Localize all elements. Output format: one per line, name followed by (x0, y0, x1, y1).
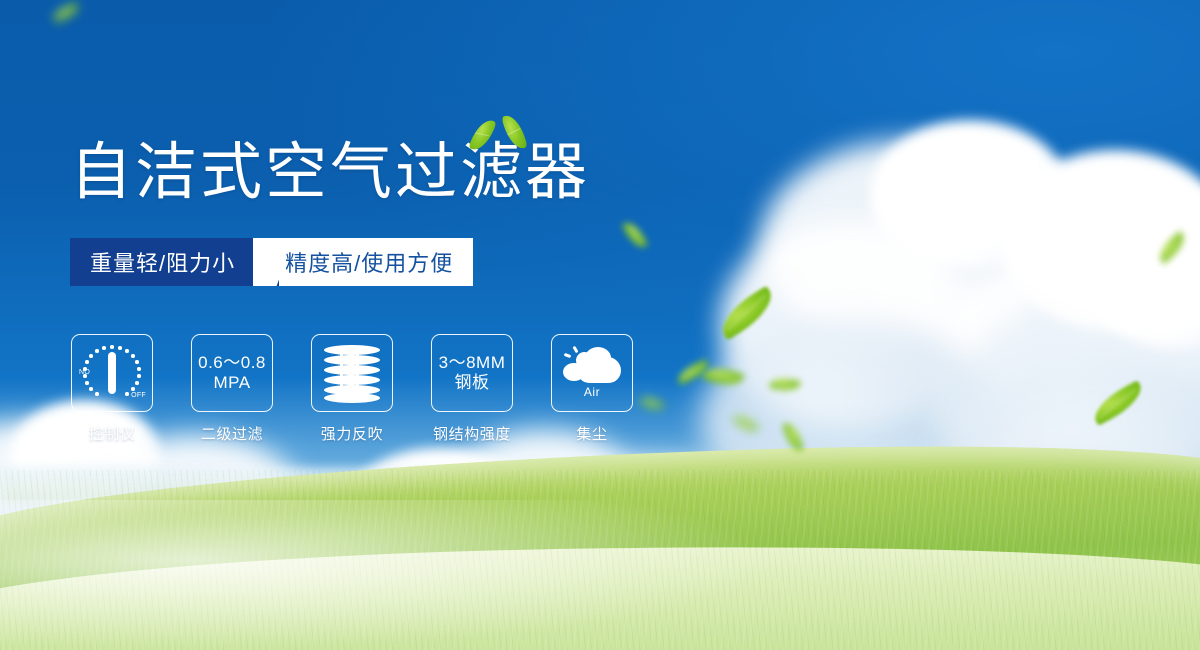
feature-label: 二级过滤 (201, 423, 263, 444)
sprout-leaves-decoration (472, 112, 536, 158)
dial-needle (108, 352, 116, 394)
feature-item-dust[interactable]: Air 集尘 (550, 334, 634, 444)
sprout-leaf-right (501, 112, 527, 151)
subtitle-bar: 重量轻/阻力小 精度高/使用方便 (70, 238, 473, 286)
sprout-leaf-left (468, 116, 496, 154)
feature-item-pressure[interactable]: 0.6～0.8 MPA 二级过滤 (190, 334, 274, 444)
subtitle-segment-right: 精度高/使用方便 (279, 238, 473, 286)
feature-item-controller[interactable]: NO OFF 控制仪 (70, 334, 154, 444)
gauge-dial-icon: NO OFF (81, 343, 143, 403)
feature-icon-box: Air (551, 334, 633, 412)
feature-label: 集尘 (576, 423, 607, 444)
feature-label: 钢结构强度 (433, 423, 511, 444)
subtitle-segment-left: 重量轻/阻力小 (70, 238, 253, 286)
feature-list: NO OFF 控制仪 0.6～0.8 MPA 二级过滤 (70, 334, 634, 444)
air-label: Air (584, 385, 600, 399)
cloud-air-icon (563, 349, 621, 383)
dial-label-off: OFF (131, 392, 146, 399)
feature-icon-box: 0.6～0.8 MPA (191, 334, 273, 412)
feature-icon-box (311, 334, 393, 412)
feature-label: 强力反吹 (321, 423, 383, 444)
pressure-unit-text: MPA (213, 373, 250, 393)
feature-icon-box: NO OFF (71, 334, 153, 412)
feature-label: 控制仪 (89, 423, 136, 444)
product-hero-banner: 自洁式空气过滤器 重量轻/阻力小 精度高/使用方便 (0, 0, 1200, 650)
subtitle-diagonal-divider (253, 238, 279, 286)
sunlight-wash (0, 500, 780, 650)
pressure-value-text: 0.6～0.8 (198, 353, 266, 373)
steel-plate-text: 钢板 (455, 373, 490, 393)
feature-icon-box: 3～8MM 钢板 (431, 334, 513, 412)
steel-thickness-text: 3～8MM (439, 353, 506, 373)
cloud-puff-main (577, 357, 621, 383)
feature-item-blowback[interactable]: 强力反吹 (310, 334, 394, 444)
feature-item-steel[interactable]: 3～8MM 钢板 钢结构强度 (430, 334, 514, 444)
filter-stack-icon (324, 344, 380, 402)
dial-label-no: NO (79, 369, 90, 376)
